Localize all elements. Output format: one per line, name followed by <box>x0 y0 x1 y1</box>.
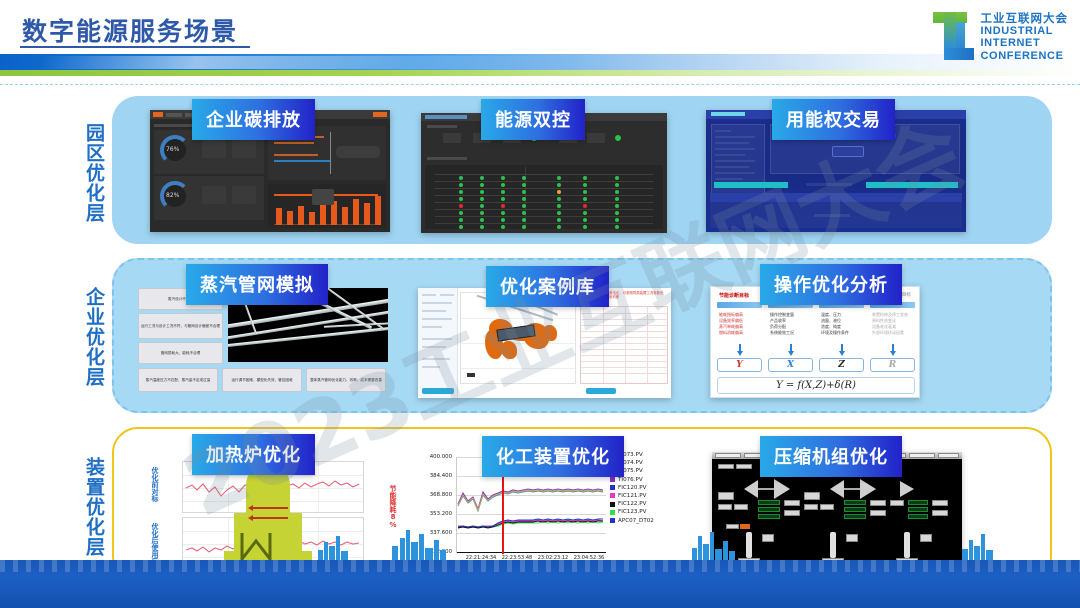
header-band-green <box>0 70 1080 76</box>
case-library-data-table <box>580 306 668 384</box>
opan-formula: Y = f(X,Z)+δ(R) <box>717 377 915 394</box>
logo-mark-icon <box>931 10 975 64</box>
logo-text: 工业互联网大会 INDUSTRIAL INTERNET CONFERENCE <box>981 12 1069 62</box>
opan-col2-items: 操作控制变量 产品收率 负荷分配 系统能效工况 <box>770 312 815 336</box>
card-title-compressor[interactable]: 压缩机组优化 <box>760 436 902 477</box>
skyline-mid <box>316 532 356 560</box>
footer-band <box>0 560 1080 608</box>
legend-item: FIC120.PV <box>610 485 654 491</box>
logo-chinese: 工业互联网大会 <box>981 12 1069 25</box>
heater-left-label-1: 优化前对标 <box>150 467 160 517</box>
row-label-enterprise: 企业优化层 <box>62 268 104 406</box>
compressor-icon-3 <box>900 481 914 497</box>
gauge-carbon-2-value: 82% <box>166 192 179 199</box>
legend-item: FIC123.PV <box>610 509 654 515</box>
row-label-park: 园区优化层 <box>62 110 104 235</box>
legend-item: APC07_DT02 <box>610 518 654 524</box>
opan-col4-items: 装置检修及停工状态 原料性质变化 设备老化衰减 外部环境扰动因素 <box>872 312 917 336</box>
ytick-0: 400.000 <box>418 454 452 460</box>
slide-root: 数字能源服务场景 工业互联网大会 INDUSTRIAL INTERNET CON… <box>0 0 1080 608</box>
page-title: 数字能源服务场景 <box>22 12 238 48</box>
steam-textbox-5: 运行调节困难，模型化失效，管控困难 <box>222 368 302 392</box>
compressor-icon-2b <box>860 479 876 499</box>
conference-logo: 工业互联网大会 INDUSTRIAL INTERNET CONFERENCE <box>931 10 1069 64</box>
skyline-far-right <box>960 530 1010 560</box>
card-title-operation-analysis[interactable]: 操作优化分析 <box>760 264 902 305</box>
card-title-trading[interactable]: 用能权交易 <box>772 99 895 140</box>
legend-item: FIC122.PV <box>610 501 654 507</box>
opan-variable-x: X <box>768 358 813 372</box>
row-label-device: 装置优化层 <box>62 438 104 576</box>
steam-textbox-4: 蒸汽温度压力不匹配、蒸汽量不足或过量 <box>138 368 218 392</box>
ytick-3: 353.200 <box>418 511 452 517</box>
logo-line-conference: CONFERENCE <box>981 50 1069 62</box>
opan-variable-y: Y <box>717 358 762 372</box>
footer-wave-decoration <box>0 560 1080 572</box>
card-title-carbon[interactable]: 企业碳排放 <box>192 99 315 140</box>
opan-variable-r: R <box>870 358 915 372</box>
header-swoosh-decoration <box>38 56 563 69</box>
opan-variable-z: Z <box>819 358 864 372</box>
opan-col3-items: 温度、压力 流量、液位 浓度、纯度 环境及操作条件 <box>821 312 866 336</box>
compressor-icon-1a <box>744 480 758 498</box>
ytick-2: 368.800 <box>418 492 452 498</box>
compressor-icon-1b <box>774 479 790 499</box>
gauge-carbon-1-value: 76% <box>166 146 179 153</box>
logo-line-industrial: INDUSTRIAL <box>981 25 1069 37</box>
card-title-dual-control[interactable]: 能源双控 <box>481 99 585 140</box>
card-title-steam[interactable]: 蒸汽管网模拟 <box>186 264 328 305</box>
steam-textbox-2: 运行工况与设计工况不符，与管网设计偏差不合理 <box>138 313 223 339</box>
header-dashed-divider <box>0 84 1080 85</box>
skyline-left <box>390 524 450 560</box>
legend-item: FIC121.PV <box>610 493 654 499</box>
ytick-1: 384.400 <box>418 473 452 479</box>
carbon-bar-chart <box>268 184 386 228</box>
dual-control-table <box>425 165 663 229</box>
compressor-icon-2a <box>830 480 844 498</box>
card-title-case-library[interactable]: 优化案例库 <box>486 266 609 307</box>
legend-item: TI076.PV <box>610 477 654 483</box>
opan-col1-items: 能耗指标偏高 设备效率偏低 蒸汽单耗偏高 燃料消耗偏高 <box>719 312 764 336</box>
steam-textbox-6: 整体蒸汽管网优化能力、效率、成本需要改善 <box>306 368 386 392</box>
skyline-right <box>690 528 740 560</box>
title-underline <box>20 46 250 48</box>
card-title-heater[interactable]: 加热炉优化 <box>192 434 315 475</box>
card-title-chemplant[interactable]: 化工装置优化 <box>482 436 624 477</box>
steam-textbox-3: 管网损耗大，能耗不合理 <box>138 342 223 364</box>
opan-heading-left: 节能诊断目标 <box>719 292 749 299</box>
logo-line-internet: INTERNET <box>981 37 1069 49</box>
